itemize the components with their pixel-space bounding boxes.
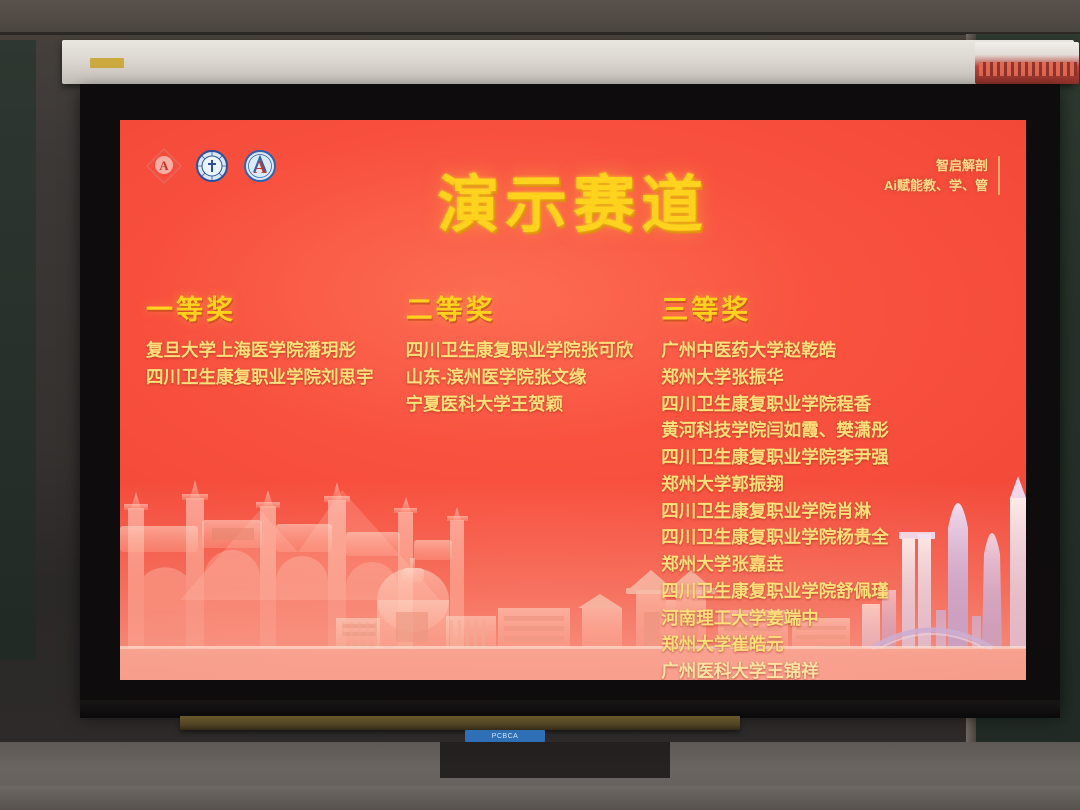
column-heading: 三等奖: [661, 288, 1008, 327]
list-item: 河南理工大学姜端中: [661, 605, 1008, 632]
list-item: 四川卫生康复职业学院舒佩瑾: [661, 578, 1008, 605]
projector-screen-casing[interactable]: [62, 40, 1074, 84]
screen-weight-bar[interactable]: [180, 716, 740, 730]
list-item: 复旦大学上海医学院潘玥彤: [146, 337, 406, 364]
list-item: 四川卫生康复职业学院肖淋: [661, 498, 1008, 525]
list-item: 郑州大学崔皓元: [661, 631, 1008, 658]
list-item: 山东-滨州医学院张文缘: [406, 364, 662, 391]
tagline-line-1: 智启解剖: [860, 156, 988, 176]
ceiling-seam: [0, 32, 1080, 35]
wall-baseboard: [0, 786, 1080, 810]
casing-badge: [90, 58, 124, 68]
column-heading: 一等奖: [146, 288, 406, 327]
slide-tagline: 智启解剖 Ai赋能教、学、管: [860, 156, 1000, 195]
award-columns: 一等奖 复旦大学上海医学院潘玥彤 四川卫生康复职业学院刘思宇 二等奖 四川卫生康…: [146, 288, 1008, 680]
award-column-third-prize: 三等奖 广州中医药大学赵乾皓 郑州大学张振华 四川卫生康复职业学院程香 黄河科技…: [661, 288, 1008, 680]
ceiling-strip: [0, 0, 1080, 34]
column-heading: 二等奖: [406, 288, 662, 327]
list-item: 广州医科大学王锦祥: [661, 658, 1008, 680]
blackboard-left-edge: [0, 40, 36, 660]
list-item: 四川卫生康复职业学院李尹强: [661, 444, 1008, 471]
weight-bar-label: PCBCA: [465, 730, 545, 742]
winner-list-third: 广州中医药大学赵乾皓 郑州大学张振华 四川卫生康复职业学院程香 黄河科技学院闫如…: [661, 337, 1008, 680]
list-item: 四川卫生康复职业学院杨贵全: [661, 524, 1008, 551]
list-item: 郑州大学张振华: [661, 364, 1008, 391]
award-column-second-prize: 二等奖 四川卫生康复职业学院张可欣 山东-滨州医学院张文缘 宁夏医科大学王贺颖: [406, 288, 662, 680]
screen-shadow: [440, 742, 670, 778]
ceiling-light-fixture: [975, 42, 1079, 84]
light-grille: [979, 62, 1077, 76]
list-item: 四川卫生康复职业学院张可欣: [406, 337, 662, 364]
list-item: 郑州大学张嘉垚: [661, 551, 1008, 578]
list-item: 郑州大学郭振翔: [661, 471, 1008, 498]
classroom-scene: A: [0, 0, 1080, 810]
winner-list-first: 复旦大学上海医学院潘玥彤 四川卫生康复职业学院刘思宇: [146, 337, 406, 391]
tagline-line-2: Ai赋能教、学、管: [860, 176, 988, 196]
list-item: 四川卫生康复职业学院刘思宇: [146, 364, 406, 391]
list-item: 广州中医药大学赵乾皓: [661, 337, 1008, 364]
award-column-first-prize: 一等奖 复旦大学上海医学院潘玥彤 四川卫生康复职业学院刘思宇: [146, 288, 406, 680]
list-item: 宁夏医科大学王贺颖: [406, 391, 662, 418]
list-item: 黄河科技学院闫如霞、樊潇彤: [661, 417, 1008, 444]
projected-slide: A: [120, 120, 1026, 680]
winner-list-second: 四川卫生康复职业学院张可欣 山东-滨州医学院张文缘 宁夏医科大学王贺颖: [406, 337, 662, 417]
list-item: 四川卫生康复职业学院程香: [661, 391, 1008, 418]
